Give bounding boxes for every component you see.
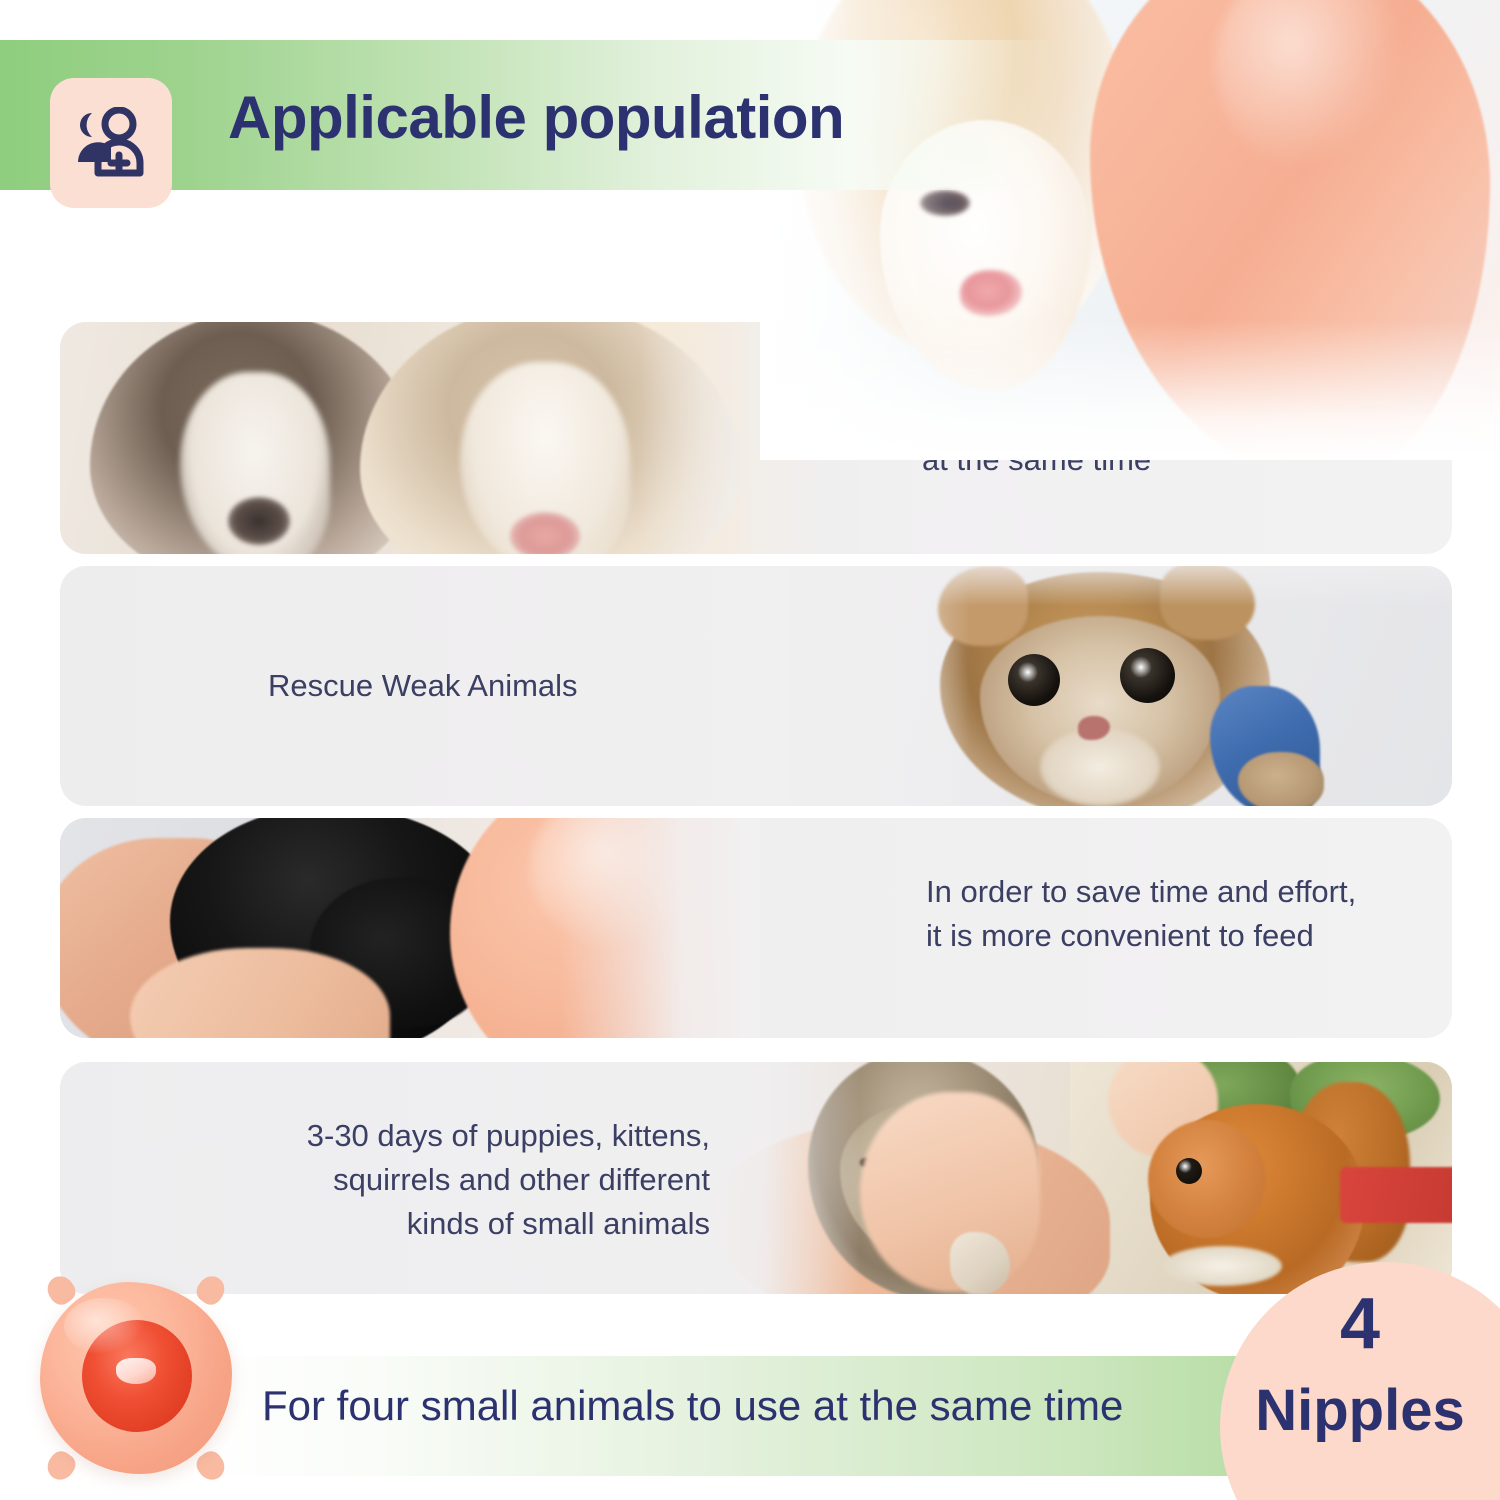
tabby-kitten-eye-right (1120, 648, 1175, 703)
husky-pup-right-nose (510, 512, 580, 554)
photo-newborn-kitten-and-squirrel (700, 1062, 1452, 1294)
feature-row-3-text: In order to save time and effort, it is … (926, 870, 1356, 958)
feature-row-2: Rescue Weak Animals (60, 566, 1452, 806)
photo3-right-fade (560, 818, 760, 1038)
infographic-page: Applicable population Hand feeding multi… (0, 0, 1500, 1500)
footer-caption: For four small animals to use at the sam… (262, 1382, 1123, 1430)
photo4-left-fade (700, 1062, 860, 1294)
photo-husky-puppies (60, 322, 860, 554)
product-nipple-bottom-right (192, 1447, 229, 1485)
red-book (1340, 1167, 1452, 1223)
feature-row-2-text: Rescue Weak Animals (268, 664, 578, 708)
squirrel-food-crumbs (1162, 1246, 1282, 1286)
tabby-kitten-eye-left (1008, 654, 1060, 706)
product-nipple-top-right (192, 1271, 229, 1309)
red-squirrel-head (1148, 1120, 1266, 1238)
photo2-top-fade (790, 566, 1452, 606)
photo-black-puppy-feeding (60, 818, 760, 1038)
nipple-count-number: 4 (1220, 1288, 1500, 1360)
photo-tabby-kitten (790, 566, 1452, 806)
tabby-kitten-muzzle (1040, 728, 1160, 806)
nipple-count-label: Nipples (1220, 1382, 1500, 1440)
feature-row-4-text: 3-30 days of puppies, kittens, squirrels… (210, 1114, 710, 1246)
husky-pup-left-nose (228, 497, 290, 545)
product-center-nipple (116, 1358, 156, 1384)
page-title: Applicable population (228, 83, 844, 152)
tabby-kitten-paw (1238, 752, 1324, 806)
red-squirrel-eye (1176, 1158, 1202, 1184)
add-group-icon (50, 78, 172, 208)
product-feeding-disc (20, 1262, 250, 1492)
header-photo-bottom-fade (760, 320, 1500, 460)
feature-row-4: 3-30 days of puppies, kittens, squirrels… (60, 1062, 1452, 1294)
product-nipple-bottom-left (42, 1447, 79, 1485)
product-highlight (64, 1298, 144, 1354)
feature-row-3: In order to save time and effort, it is … (60, 818, 1452, 1038)
